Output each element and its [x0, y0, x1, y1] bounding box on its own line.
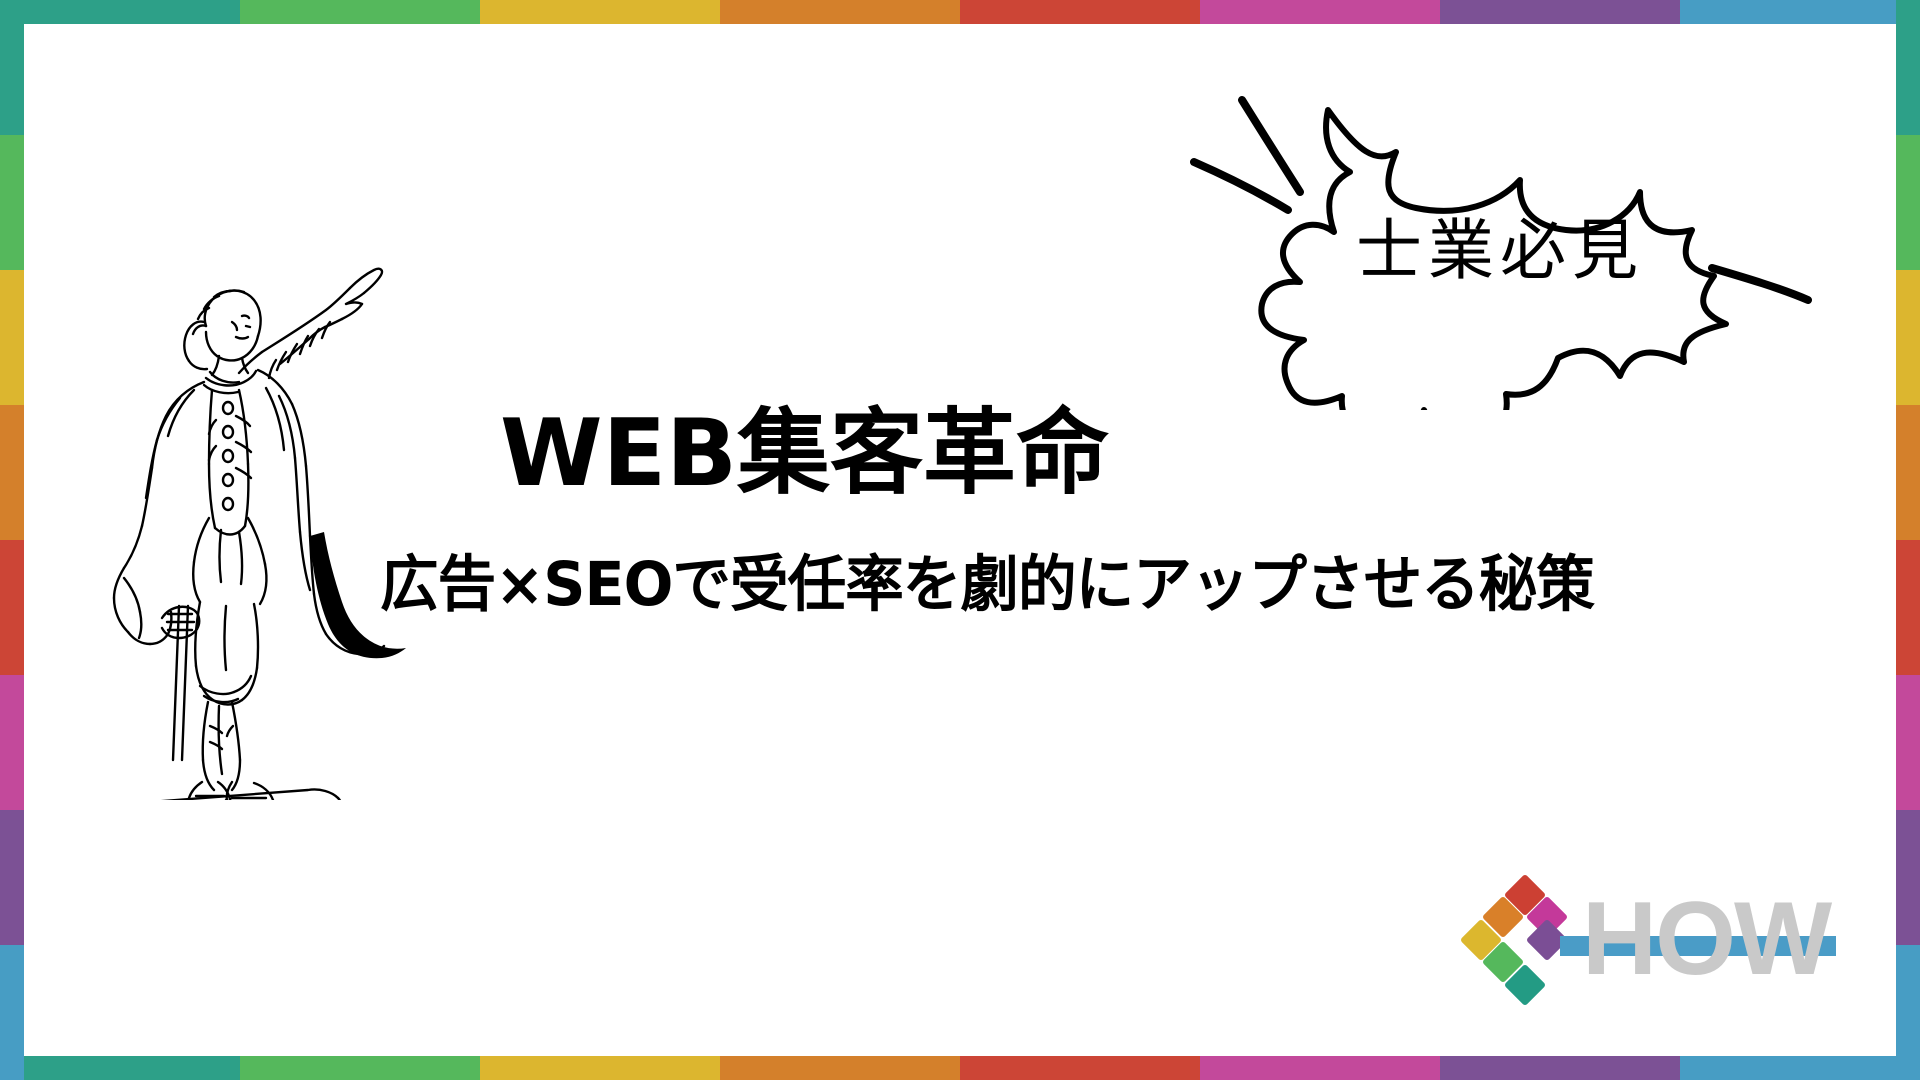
border-bottom-segment-2	[480, 1056, 720, 1080]
logo-wordmark-wrap: HOW	[1582, 876, 1836, 1006]
border-top-segment-6	[1440, 0, 1680, 24]
border-top-segment-0	[0, 0, 240, 24]
border-left-segment-4	[0, 540, 24, 675]
border-bottom	[0, 1056, 1920, 1080]
border-right-segment-3	[1896, 405, 1920, 540]
border-left-segment-7	[0, 945, 24, 1080]
border-bottom-segment-1	[240, 1056, 480, 1080]
status-badge: 士業必見	[1180, 40, 1820, 410]
border-left	[0, 0, 24, 1080]
border-right-segment-0	[1896, 0, 1920, 135]
border-left-segment-1	[0, 135, 24, 270]
badge-label-wrap: 士業必見	[1180, 40, 1820, 410]
border-top-segment-4	[960, 0, 1200, 24]
border-top-segment-2	[480, 0, 720, 24]
border-top-segment-3	[720, 0, 960, 24]
border-bottom-segment-5	[1200, 1056, 1440, 1080]
border-right-segment-6	[1896, 810, 1920, 945]
slide-canvas: 士業必見 WEB集客革命 広告×SEOで受任率を劇的にアップさせる秘策 HOW	[0, 0, 1920, 1080]
border-right-segment-4	[1896, 540, 1920, 675]
border-bottom-segment-6	[1440, 1056, 1680, 1080]
border-top-segment-5	[1200, 0, 1440, 24]
badge-label: 士業必見	[1356, 197, 1644, 293]
border-left-segment-5	[0, 675, 24, 810]
border-bottom-segment-4	[960, 1056, 1200, 1080]
headline-block: WEB集客革命 広告×SEOで受任率を劇的にアップさせる秘策	[380, 405, 1780, 618]
border-top-segment-1	[240, 0, 480, 24]
border-right-segment-2	[1896, 270, 1920, 405]
border-right-segment-7	[1896, 945, 1920, 1080]
border-top	[0, 0, 1920, 24]
border-bottom-segment-0	[0, 1056, 240, 1080]
border-right	[1896, 0, 1920, 1080]
border-left-segment-3	[0, 405, 24, 540]
border-left-segment-6	[0, 810, 24, 945]
how-logo: HOW	[1466, 876, 1836, 1006]
page-subtitle: 広告×SEOで受任率を劇的にアップさせる秘策	[380, 551, 1724, 618]
border-right-segment-5	[1896, 675, 1920, 810]
border-right-segment-1	[1896, 135, 1920, 270]
border-bottom-segment-3	[720, 1056, 960, 1080]
border-left-segment-0	[0, 0, 24, 135]
border-top-segment-7	[1680, 0, 1920, 24]
pointing-statue-illustration	[76, 230, 416, 800]
border-bottom-segment-7	[1680, 1056, 1920, 1080]
logo-wordmark: HOW	[1582, 876, 1836, 1006]
border-left-segment-2	[0, 270, 24, 405]
page-title: WEB集客革命	[380, 405, 1780, 503]
